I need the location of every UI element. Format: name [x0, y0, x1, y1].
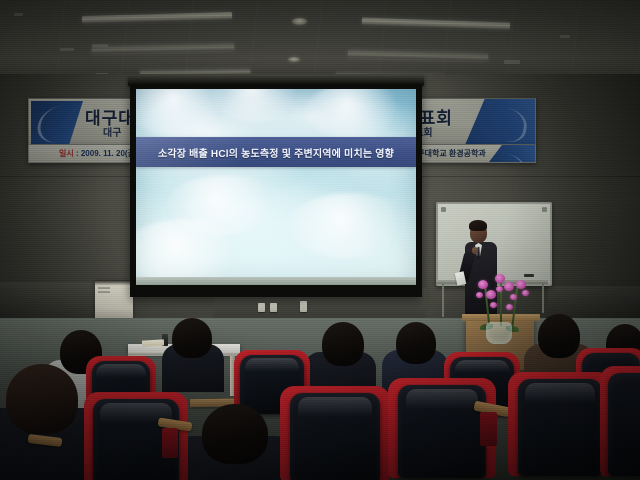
audience-head: [6, 364, 78, 434]
ceiling-vent: [560, 35, 570, 38]
ceiling-downlight: [292, 18, 307, 25]
banner-date: 일시 : 2009. 11. 20(금): [59, 148, 138, 159]
seat-highlight: [96, 364, 146, 378]
auditorium-photo: 대구대 대구 일시 : 2009. 11. 20(금) 발표회 발표회 : 대구…: [0, 0, 640, 480]
banner-logo-swoosh: [31, 101, 83, 146]
whiteboard-leg: [542, 283, 544, 313]
ceiling-tile-grid: [0, 0, 640, 78]
whiteboard-corner-clip: [542, 207, 547, 212]
orchid-bloom: [504, 282, 514, 291]
ceiling-vent: [60, 48, 74, 51]
orchid-bloom: [486, 290, 496, 299]
auditorium-seat: [600, 366, 640, 476]
presenter-hand: [472, 247, 478, 254]
seat-highlight: [406, 389, 478, 409]
whiteboard-corner-clip: [441, 207, 446, 212]
radiator-vent: [98, 291, 110, 293]
cloud-shape: [286, 193, 416, 259]
slide-bottom-strip: [136, 277, 416, 285]
orchid-bloom: [478, 280, 488, 289]
seat-arm-side: [162, 428, 178, 458]
banner-date-value: : 2009. 11. 20(금): [76, 149, 138, 158]
orchid-bloom: [510, 294, 517, 300]
wall-outlet: [300, 301, 307, 312]
ceiling: [0, 0, 640, 78]
ceiling-vent: [504, 60, 520, 64]
presenter-hair: [469, 220, 487, 231]
paper-stack: [142, 339, 164, 346]
banner-date-key: 일시: [59, 149, 74, 158]
wall-radiator: [95, 280, 133, 320]
audience-head: [322, 322, 364, 366]
orchid-bloom: [495, 274, 505, 283]
flower-vase: [486, 322, 512, 344]
audience-head: [538, 314, 580, 358]
orchid-bloom: [496, 286, 503, 292]
ceiling-downlight: [288, 57, 300, 62]
wall-outlet: [258, 303, 265, 312]
auditorium-seat: [280, 386, 390, 480]
radiator-vent: [98, 287, 110, 289]
projected-slide: 소각장 배출 HCl의 농도측정 및 주변지역에 미치는 영향: [136, 89, 416, 285]
banner-logo-swoosh-right: [465, 99, 535, 145]
audience-head: [202, 404, 268, 464]
ceiling-vent: [14, 13, 23, 16]
orchid-bloom: [522, 290, 529, 296]
audience-head: [396, 322, 436, 364]
seat-back: [608, 373, 640, 476]
orchid-bloom: [506, 304, 513, 310]
banner-subtitle-left: 대구: [103, 124, 121, 139]
orchid-bloom: [490, 302, 497, 308]
seat-highlight: [298, 397, 372, 417]
auditorium-seat: [508, 372, 612, 476]
ceiling-vent: [92, 44, 108, 47]
orchid-bloom: [516, 280, 526, 289]
seat-arm-side: [480, 412, 497, 446]
audience-head: [172, 318, 212, 358]
orchid-bloom: [476, 292, 483, 298]
banner-logo-swoosh-right: [489, 145, 535, 162]
seat-highlight: [455, 360, 509, 373]
slide-title-bar: 소각장 배출 HCl의 농도측정 및 주변지역에 미치는 영향: [136, 137, 416, 167]
seat-highlight: [245, 358, 299, 372]
wall-outlet: [270, 303, 277, 312]
cloud-shape: [304, 89, 408, 141]
whiteboard-leg: [442, 283, 444, 317]
seat-highlight: [525, 383, 595, 403]
slide-title-text: 소각장 배출 HCl의 농도측정 및 주변지역에 미치는 영향: [158, 145, 394, 160]
